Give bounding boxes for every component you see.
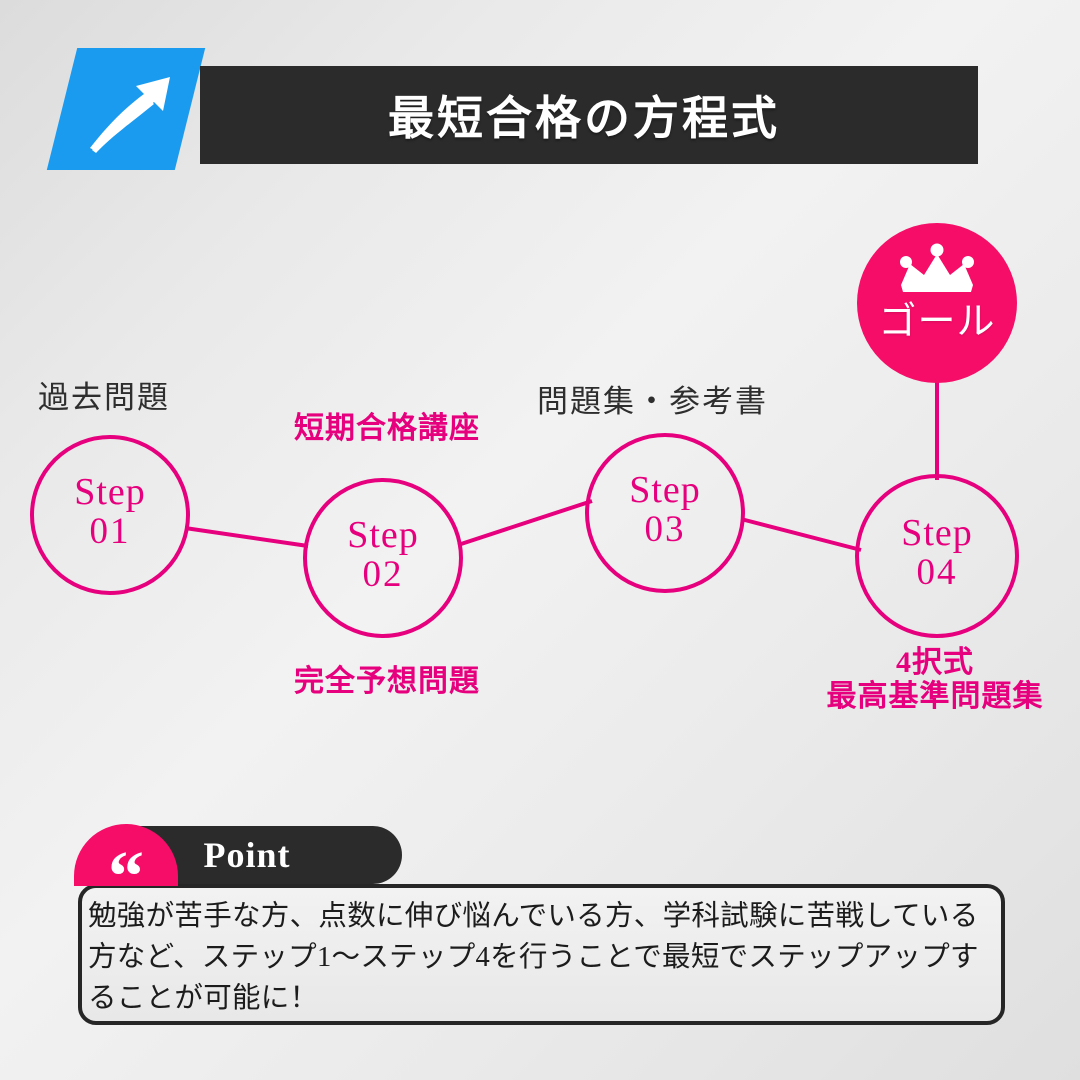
- step-04-label-below: 4択式 最高基準問題集: [800, 646, 1070, 713]
- step-03-number: 03: [580, 511, 750, 550]
- step-03-text: Step 03: [580, 471, 750, 550]
- step-02-word: Step: [347, 514, 419, 556]
- poster-canvas: 最短合格の方程式: [0, 0, 1080, 1080]
- step-01-text: Step 01: [25, 473, 195, 552]
- step-02-number: 02: [298, 556, 468, 595]
- step-02-label-above: 短期合格講座: [272, 412, 502, 446]
- point-body-text: 勉強が苦手な方、点数に伸び悩んでいる方、学科試験に苦戦している方など、ステップ1…: [88, 896, 996, 1019]
- step-04-text: Step 04: [852, 514, 1022, 593]
- step-03-word: Step: [629, 469, 701, 511]
- step-02-text: Step 02: [298, 516, 468, 595]
- step-04-word: Step: [901, 512, 973, 554]
- roadmap-diagram: ゴール Step 01 Step 02 Step 03 Step 04 過去問題…: [0, 190, 1080, 770]
- step-04-label-below-line2: 最高基準問題集: [800, 680, 1070, 714]
- connector-step03-step04: [741, 519, 861, 550]
- quotation-mark-icon: “: [74, 826, 178, 888]
- goal-label: ゴール: [847, 290, 1027, 345]
- step-01-number: 01: [25, 513, 195, 552]
- step-01-label-above: 過去問題: [38, 372, 170, 417]
- connector-step02-step03: [458, 501, 592, 545]
- upward-arrow-icon: [66, 52, 196, 168]
- header-banner: 最短合格の方程式: [200, 66, 978, 164]
- step-04-label-below-line1: 4択式: [800, 646, 1070, 680]
- step-02-label-below: 完全予想問題: [272, 665, 502, 699]
- page-title: 最短合格の方程式: [388, 82, 780, 148]
- connector-step01-step02: [185, 528, 308, 546]
- step-03-label-above: 問題集・参考書: [537, 376, 768, 421]
- step-04-number: 04: [852, 554, 1022, 593]
- step-01-word: Step: [74, 471, 146, 513]
- point-badge-label: Point: [203, 834, 290, 876]
